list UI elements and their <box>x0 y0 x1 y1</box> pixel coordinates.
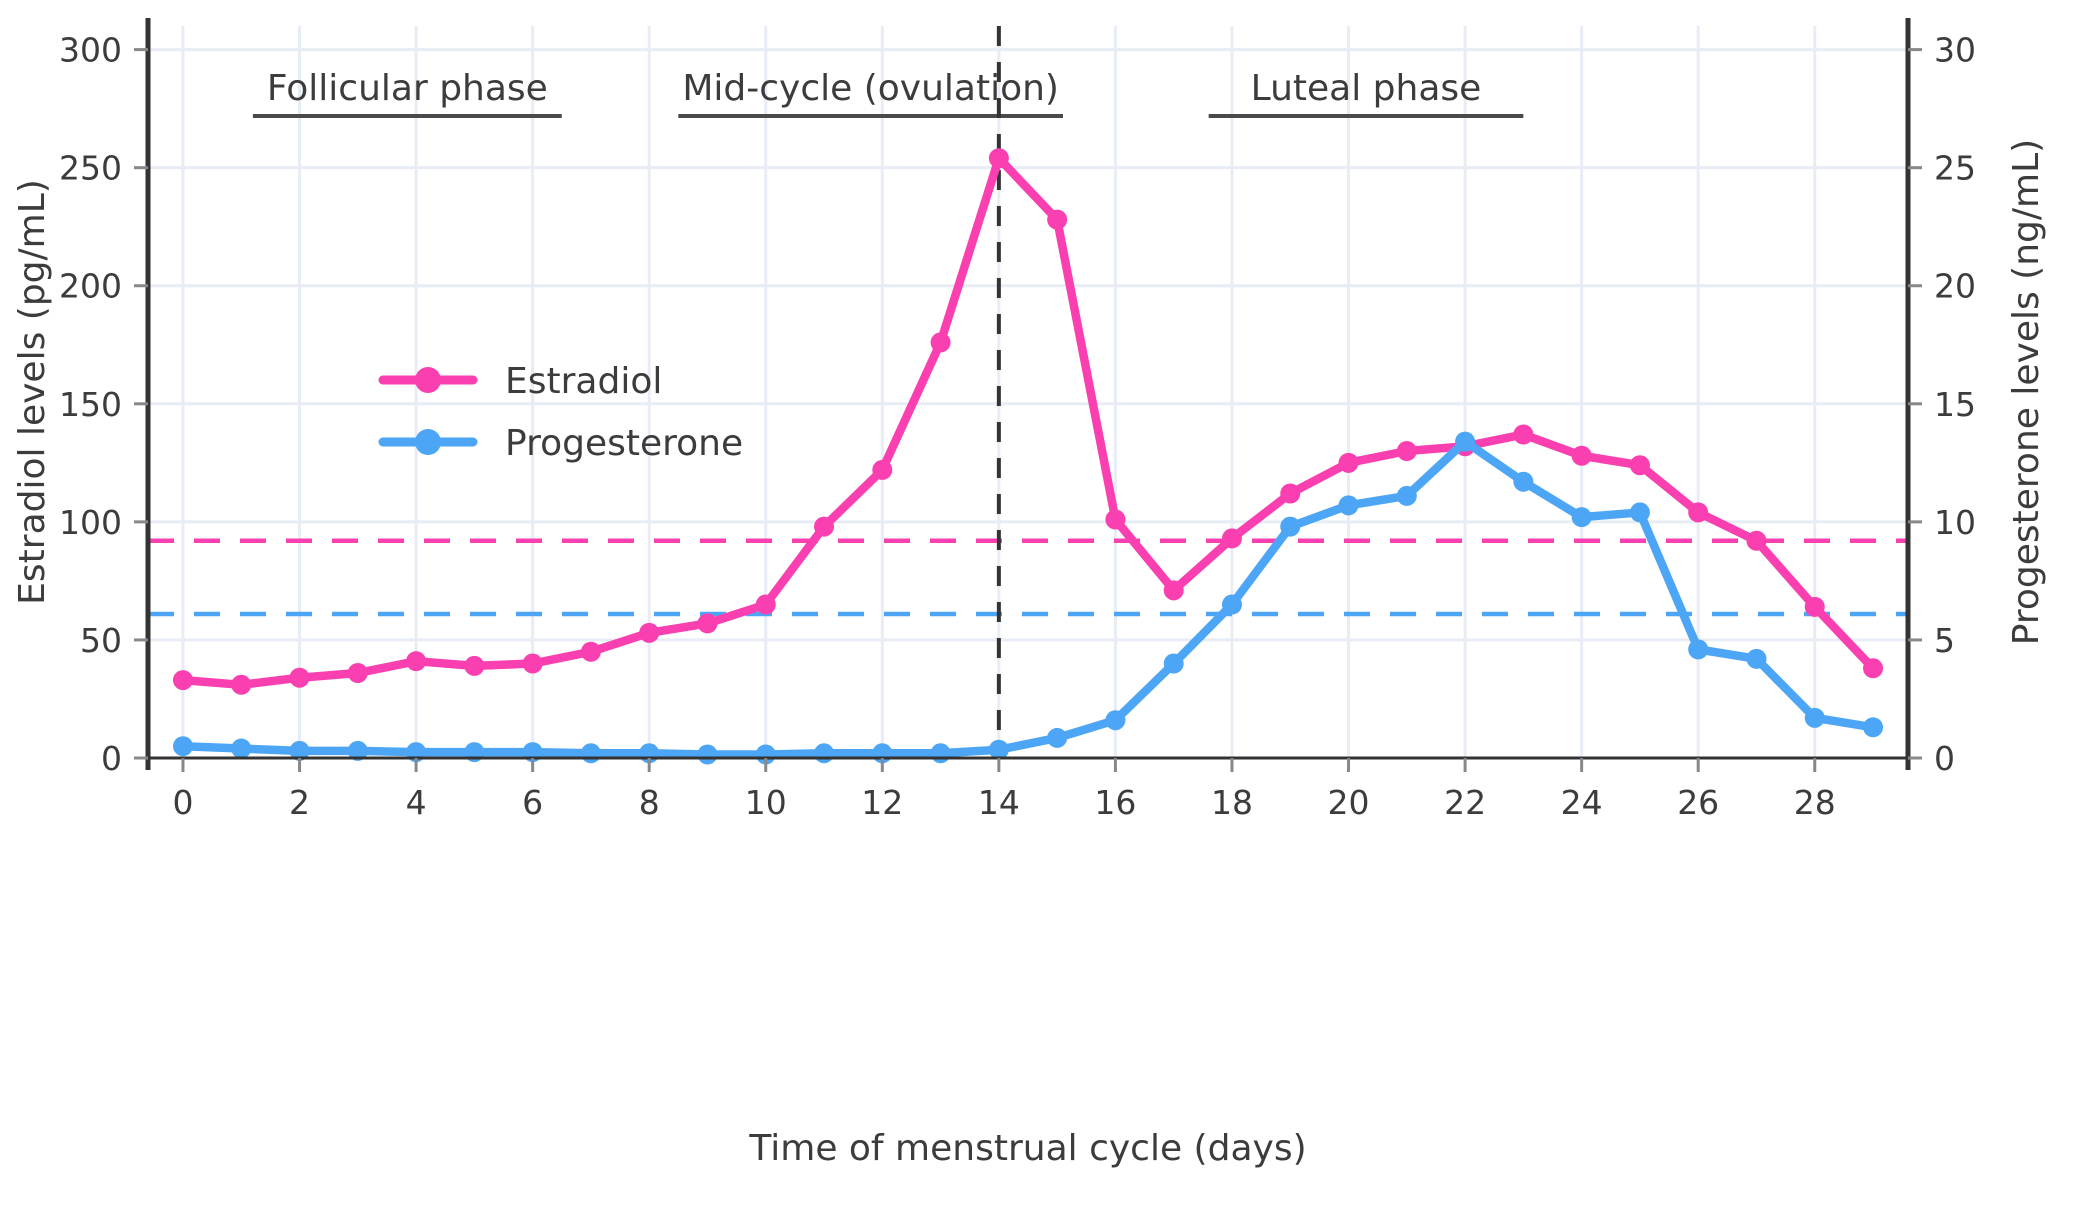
data-point-progesterone <box>1164 654 1184 674</box>
data-point-progesterone <box>1280 517 1300 537</box>
data-point-estradiol <box>1572 446 1592 466</box>
right-tick-label: 20 <box>1934 267 1976 306</box>
data-point-estradiol <box>1222 528 1242 548</box>
bottom-tick-label: 28 <box>1794 783 1836 822</box>
data-point-estradiol <box>931 332 951 352</box>
data-point-estradiol <box>989 148 1009 168</box>
data-point-progesterone <box>1863 717 1883 737</box>
legend-marker-progesterone <box>415 429 441 455</box>
chart-background <box>0 0 2077 1208</box>
bottom-tick-label: 14 <box>978 783 1020 822</box>
chart-figure: Follicular phaseMid-cycle (ovulation)Lut… <box>0 0 2077 1208</box>
bottom-tick-label: 4 <box>406 783 427 822</box>
data-point-estradiol <box>1164 580 1184 600</box>
data-point-progesterone <box>1047 728 1067 748</box>
data-point-estradiol <box>697 613 717 633</box>
bottom-tick-label: 18 <box>1211 783 1253 822</box>
data-point-estradiol <box>639 623 659 643</box>
data-point-progesterone <box>581 743 601 763</box>
data-point-estradiol <box>1280 484 1300 504</box>
data-point-progesterone <box>1513 472 1533 492</box>
left-tick-label: 100 <box>59 503 122 542</box>
data-point-progesterone <box>1805 708 1825 728</box>
bottom-tick-label: 26 <box>1677 783 1719 822</box>
data-point-progesterone <box>697 744 717 764</box>
data-point-estradiol <box>523 654 543 674</box>
data-point-progesterone <box>1455 432 1475 452</box>
luteal-phase-label: Luteal phase <box>1251 68 1482 109</box>
y2-axis-title: Progesterone levels (ng/mL) <box>2006 139 2047 645</box>
phase-annotations: Follicular phaseMid-cycle (ovulation)Lut… <box>253 68 1523 116</box>
y-axis-title: Estradiol levels (pg/mL) <box>12 179 53 605</box>
bottom-tick-label: 22 <box>1444 783 1486 822</box>
data-point-estradiol <box>1746 531 1766 551</box>
bottom-tick-label: 16 <box>1094 783 1136 822</box>
left-tick-label: 50 <box>80 621 122 660</box>
bottom-tick-label: 24 <box>1561 783 1603 822</box>
left-tick-label: 250 <box>59 149 122 188</box>
right-tick-label: 5 <box>1934 621 1955 660</box>
data-point-progesterone <box>231 739 251 759</box>
bottom-tick-label: 6 <box>522 783 543 822</box>
bottom-tick-label: 0 <box>172 783 193 822</box>
bottom-tick-label: 2 <box>289 783 310 822</box>
data-point-progesterone <box>1746 649 1766 669</box>
data-point-progesterone <box>1688 639 1708 659</box>
left-tick-label: 150 <box>59 385 122 424</box>
bottom-tick-label: 8 <box>639 783 660 822</box>
data-point-progesterone <box>1222 595 1242 615</box>
data-point-estradiol <box>814 517 834 537</box>
right-tick-label: 25 <box>1934 149 1976 188</box>
data-point-progesterone <box>173 736 193 756</box>
data-point-progesterone <box>1397 486 1417 506</box>
right-tick-label: 15 <box>1934 385 1976 424</box>
hormone-levels-chart: Follicular phaseMid-cycle (ovulation)Lut… <box>0 0 2077 1208</box>
data-point-progesterone <box>931 743 951 763</box>
data-point-estradiol <box>1397 441 1417 461</box>
right-tick-label: 0 <box>1934 739 1955 778</box>
data-point-estradiol <box>581 642 601 662</box>
data-point-estradiol <box>1630 455 1650 475</box>
mid-cycle-label: Mid-cycle (ovulation) <box>682 68 1059 109</box>
data-point-estradiol <box>1513 425 1533 445</box>
legend-marker-estradiol <box>415 367 441 393</box>
x-axis-title: Time of menstrual cycle (days) <box>748 1128 1306 1169</box>
data-point-estradiol <box>290 668 310 688</box>
data-point-estradiol <box>348 663 368 683</box>
bottom-tick-label: 10 <box>745 783 787 822</box>
follicular-phase-label: Follicular phase <box>267 68 548 109</box>
bottom-tick-label: 20 <box>1328 783 1370 822</box>
data-point-estradiol <box>406 651 426 671</box>
data-point-estradiol <box>1688 502 1708 522</box>
data-point-progesterone <box>1339 495 1359 515</box>
data-point-estradiol <box>1047 210 1067 230</box>
data-point-estradiol <box>1805 597 1825 617</box>
data-point-estradiol <box>1339 453 1359 473</box>
data-point-progesterone <box>1105 710 1125 730</box>
data-point-progesterone <box>814 743 834 763</box>
data-point-estradiol <box>231 675 251 695</box>
data-point-estradiol <box>464 656 484 676</box>
data-point-estradiol <box>173 670 193 690</box>
right-tick-label: 10 <box>1934 503 1976 542</box>
data-point-estradiol <box>1863 658 1883 678</box>
legend-label-estradiol: Estradiol <box>505 361 662 402</box>
left-tick-label: 0 <box>101 739 122 778</box>
data-point-estradiol <box>756 595 776 615</box>
right-tick-label: 30 <box>1934 31 1976 70</box>
data-point-progesterone <box>1630 502 1650 522</box>
bottom-tick-label: 12 <box>861 783 903 822</box>
data-point-progesterone <box>1572 507 1592 527</box>
left-tick-label: 300 <box>59 31 122 70</box>
left-tick-label: 200 <box>59 267 122 306</box>
legend-label-progesterone: Progesterone <box>505 423 743 464</box>
data-point-estradiol <box>872 460 892 480</box>
data-point-estradiol <box>1105 510 1125 530</box>
